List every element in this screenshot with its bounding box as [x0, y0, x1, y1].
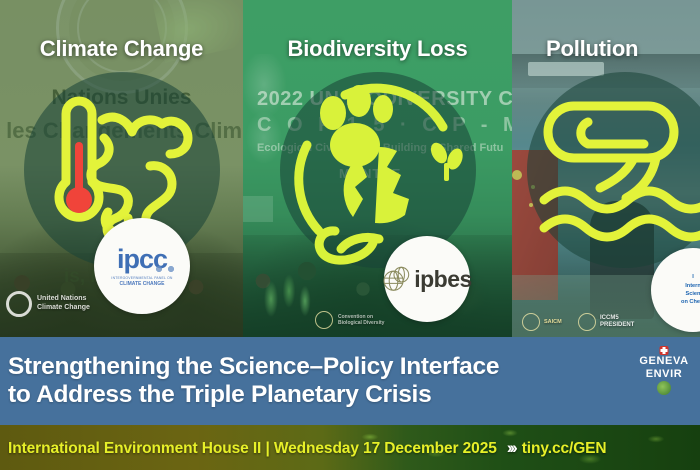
- ge-logo-line-1: GENEVA: [624, 355, 700, 368]
- panel-title-climate-change: Climate Change: [0, 36, 243, 62]
- iccm5-emblem-icon: [578, 313, 596, 331]
- isp-line-1: I: [692, 273, 694, 281]
- tree-icon: [657, 381, 671, 395]
- footer-text: International Environment House II | Wed…: [0, 438, 606, 458]
- isp-line-2: Intern: [685, 282, 700, 290]
- iccm5-corner-text: ICCM5 PRESIDENT: [600, 315, 634, 330]
- ipcc-un-wmo-emblems-icon: [152, 262, 178, 276]
- cbd-line2: Biological Diversity: [338, 320, 384, 326]
- ipcc-subtitle-2: CLIMATE CHANGE: [120, 281, 165, 287]
- cbd-corner-text: Convention on Biological Diversity: [338, 314, 384, 327]
- ipbes-logo-badge: ipbes: [384, 236, 470, 322]
- headline-line-2: to Address the Triple Planetary Crisis: [8, 381, 499, 409]
- cbd-emblem-icon: [315, 311, 333, 329]
- geneva-environment-network-logo: GENEVA ENVIR: [624, 355, 700, 381]
- venue-and-date: International Environment House II | Wed…: [8, 440, 497, 457]
- saicm-corner-text: SAICM: [544, 319, 562, 326]
- swiss-cross-icon: [660, 346, 669, 355]
- panel-pollution: Pollution SAICM ICCM5 PRESIDENT I Intern…: [512, 0, 700, 345]
- title-band: Strengthening the Science–Policy Interfa…: [0, 337, 700, 425]
- headline: Strengthening the Science–Policy Interfa…: [0, 353, 499, 410]
- arrows-icon: ›››: [507, 438, 515, 457]
- paw-cracked-earth-leaf-icon: [283, 75, 473, 265]
- isp-line-4: on Chem: [681, 298, 700, 306]
- panel-title-biodiversity-loss: Biodiversity Loss: [243, 36, 512, 62]
- pipe-outflow-water-icon: [534, 88, 700, 268]
- isp-line-3: Scien: [686, 290, 700, 298]
- iccm5-line2: PRESIDENT: [600, 322, 634, 330]
- iccm5-president-logo: ICCM5 PRESIDENT: [578, 313, 634, 331]
- iccm5-line1: ICCM5: [600, 315, 634, 323]
- saicm-emblem-icon: [522, 313, 540, 331]
- cbd-corner-logo: Convention on Biological Diversity: [315, 311, 384, 329]
- footer-band: International Environment House II | Wed…: [0, 425, 700, 470]
- saicm-corner-logo: SAICM: [522, 313, 562, 331]
- unfccc-c-icon: [6, 291, 32, 317]
- unfccc-corner-logo: United Nations Climate Change: [6, 291, 90, 317]
- unfccc-line1: United Nations: [37, 295, 90, 304]
- unfccc-line2: Climate Change: [37, 304, 90, 313]
- ipbes-wordmark: ipbes: [414, 266, 472, 293]
- event-poster: Nations Unies ur les Changements Clim is…: [0, 0, 700, 470]
- ge-logo-line-2: ENVIR: [624, 368, 700, 381]
- short-link[interactable]: tiny.cc/GEN: [522, 440, 607, 457]
- ipcc-logo-badge: ipcc INTERGOVERNMENTAL PANEL ON CLIMATE …: [94, 218, 190, 314]
- headline-line-1: Strengthening the Science–Policy Interfa…: [8, 353, 499, 381]
- ipcc-subtitle-1: INTERGOVERNMENTAL PANEL ON: [111, 276, 172, 280]
- ipbes-globe-icon: [382, 266, 412, 292]
- saicm-line1: SAICM: [544, 319, 562, 326]
- panel-title-pollution: Pollution: [546, 36, 700, 62]
- unfccc-corner-text: United Nations Climate Change: [37, 295, 90, 313]
